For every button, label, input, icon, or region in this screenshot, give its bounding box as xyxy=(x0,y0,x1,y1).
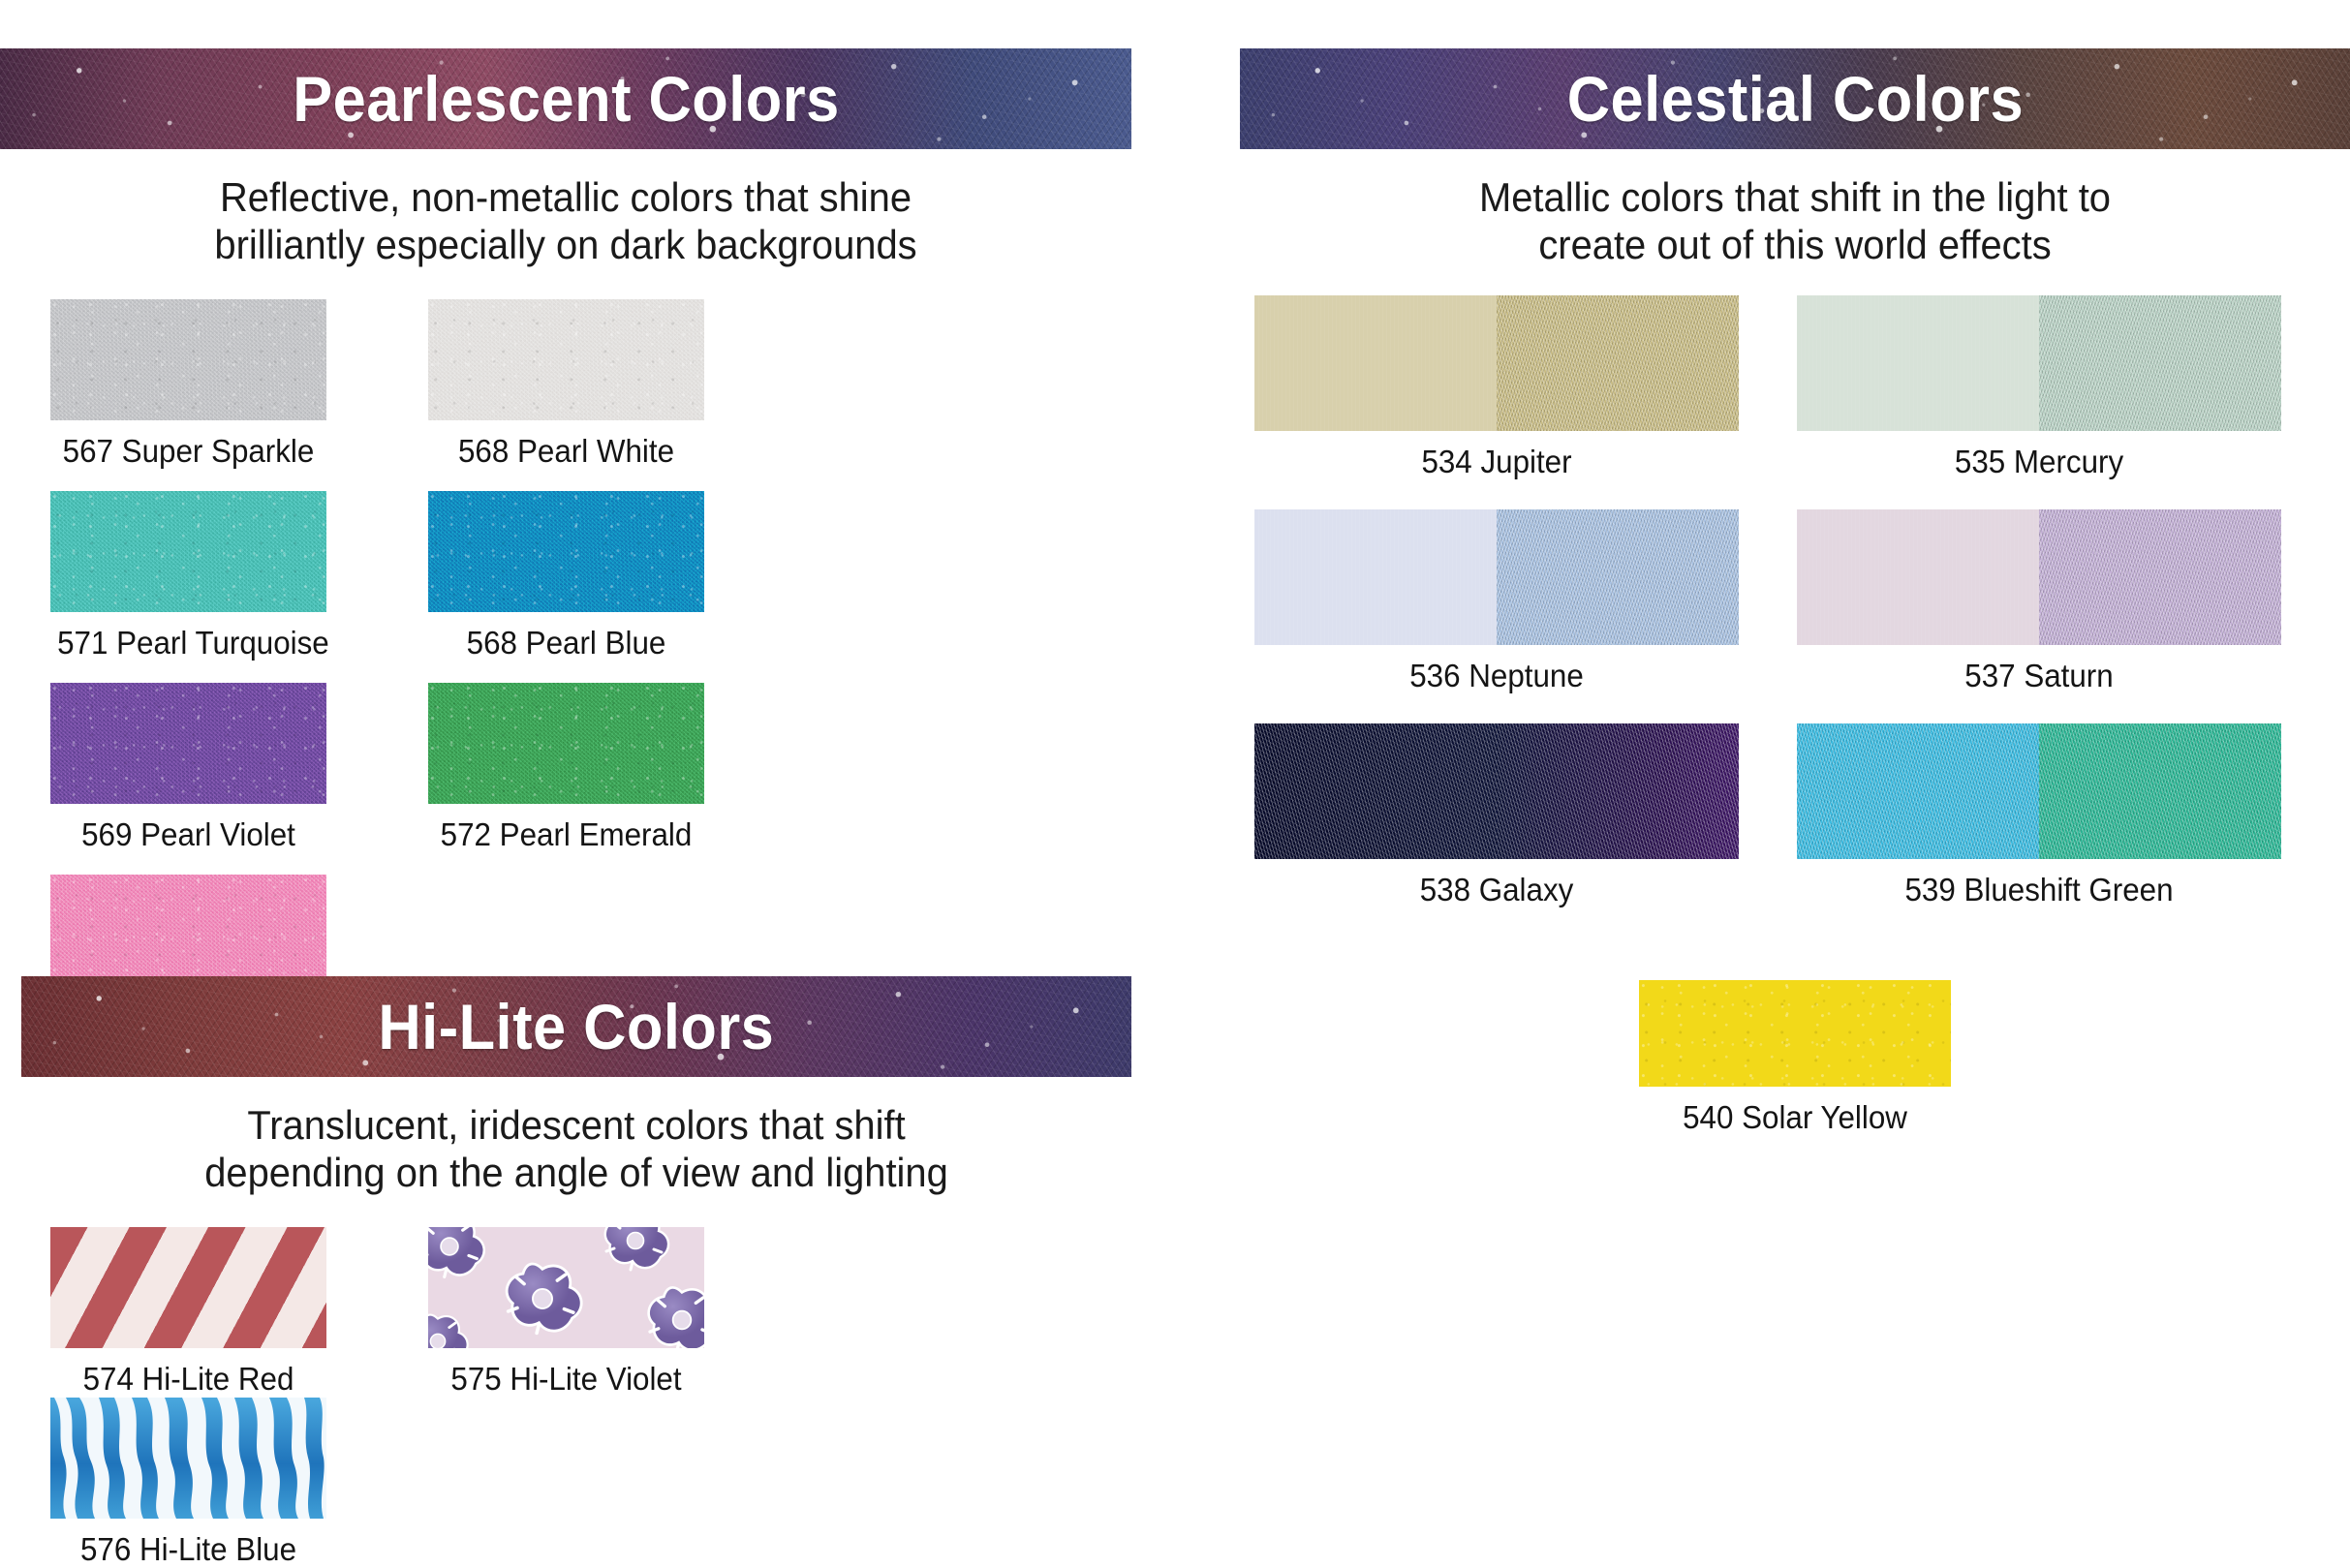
swatch-cell[interactable]: 571 Pearl Turquoise xyxy=(50,491,428,661)
swatch-534-jupiter[interactable] xyxy=(1254,295,1739,431)
pearlescent-desc-line-1: Reflective, non-metallic colors that shi… xyxy=(28,174,1103,222)
pearlescent-swatch-grid: 567 Super Sparkle 568 Pearl White 571 Pe… xyxy=(0,299,1131,1066)
swatch-half-metallic xyxy=(1497,509,1739,645)
swatch-cell[interactable]: 575 Hi-Lite Violet xyxy=(428,1227,806,1398)
swatch-cell[interactable]: 536 Neptune xyxy=(1254,509,1797,694)
pearlescent-title: Pearlescent Colors xyxy=(293,62,839,136)
swatch-label: 538 Galaxy xyxy=(1267,872,1727,908)
metallic-texture-overlay xyxy=(1497,509,1739,645)
swatch-cell[interactable]: 537 Saturn xyxy=(1797,509,2339,694)
swatch-label: 571 Pearl Turquoise xyxy=(57,625,320,661)
swatch-568-pearl-white[interactable] xyxy=(428,299,704,420)
swatch-label: 539 Blueshift Green xyxy=(1809,872,2270,908)
swatch-label: 534 Jupiter xyxy=(1267,444,1727,480)
metallic-texture-overlay xyxy=(2039,295,2281,431)
swatch-grain-overlay xyxy=(428,491,704,612)
swatch-538-galaxy[interactable] xyxy=(1254,723,1739,859)
swatch-cell[interactable]: 574 Hi-Lite Red xyxy=(50,1227,428,1398)
hilite-swatch-grid: 574 Hi-Lite Red xyxy=(21,1227,1131,1568)
swatch-half-metallic xyxy=(1497,723,1739,859)
swatch-half-metallic xyxy=(2039,723,2281,859)
section-hilite: Hi-Lite Colors Translucent, iridescent c… xyxy=(21,976,1131,1568)
pearlescent-description: Reflective, non-metallic colors that shi… xyxy=(28,174,1103,268)
section-pearlescent: Pearlescent Colors Reflective, non-metal… xyxy=(0,48,1131,1066)
pearlescent-desc-line-2: brilliantly especially on dark backgroun… xyxy=(28,222,1103,269)
swatch-grain-overlay xyxy=(428,299,704,420)
swatch-grain-overlay xyxy=(50,491,326,612)
swatch-half-flat xyxy=(1254,723,1497,859)
swatch-567-super-sparkle[interactable] xyxy=(50,299,326,420)
left-column: Pearlescent Colors Reflective, non-metal… xyxy=(0,0,1177,1453)
swatch-half-metallic xyxy=(1497,295,1739,431)
sheen-overlay xyxy=(1797,295,2039,431)
hilite-desc-line-1: Translucent, iridescent colors that shif… xyxy=(49,1102,1104,1150)
swatch-label: 575 Hi-Lite Violet xyxy=(435,1361,697,1398)
swatch-half-metallic xyxy=(2039,295,2281,431)
swatch-label: 535 Mercury xyxy=(1809,444,2270,480)
swatch-label: 567 Super Sparkle xyxy=(57,433,320,470)
sheen-overlay xyxy=(1254,295,1497,431)
swatch-571-pearl-turquoise[interactable] xyxy=(50,491,326,612)
celestial-description: Metallic colors that shift in the light … xyxy=(1268,174,2323,268)
swatch-cell[interactable]: 572 Pearl Emerald xyxy=(428,683,806,853)
swatch-grain-overlay xyxy=(50,299,326,420)
metallic-texture-overlay xyxy=(1797,723,2039,859)
floral-pattern-icon xyxy=(428,1227,704,1348)
metallic-texture-overlay xyxy=(2039,723,2281,859)
hilite-desc-line-2: depending on the angle of view and light… xyxy=(49,1150,1104,1197)
metallic-texture-overlay xyxy=(1254,723,1497,859)
swatch-label: 568 Pearl White xyxy=(435,433,697,470)
hilite-header-band: Hi-Lite Colors xyxy=(21,976,1131,1077)
hilite-description: Translucent, iridescent colors that shif… xyxy=(49,1102,1104,1196)
celestial-desc-line-1: Metallic colors that shift in the light … xyxy=(1268,174,2323,222)
hilite-title: Hi-Lite Colors xyxy=(379,990,775,1063)
celestial-desc-line-2: create out of this world effects xyxy=(1268,222,2323,269)
swatch-label: 574 Hi-Lite Red xyxy=(57,1361,320,1398)
swatch-label: 576 Hi-Lite Blue xyxy=(57,1531,320,1568)
sheen-overlay xyxy=(1797,509,2039,645)
metallic-texture-overlay xyxy=(2039,509,2281,645)
swatch-cell[interactable]: 576 Hi-Lite Blue xyxy=(50,1398,428,1568)
right-column: Celestial Colors Metallic colors that sh… xyxy=(1240,0,2350,1453)
celestial-swatch-grid: 534 Jupiter 535 Mercury 536 Neptune xyxy=(1240,295,2350,938)
swatch-half-flat xyxy=(1797,509,2039,645)
swatch-label: 569 Pearl Violet xyxy=(57,816,320,853)
swatch-cell[interactable]: 535 Mercury xyxy=(1797,295,2339,480)
swatch-label: 572 Pearl Emerald xyxy=(435,816,697,853)
swatch-cell[interactable]: 538 Galaxy xyxy=(1254,723,1797,908)
swatch-grain-overlay xyxy=(428,683,704,804)
swatch-half-flat xyxy=(1797,723,2039,859)
swatch-cell[interactable]: 539 Blueshift Green xyxy=(1797,723,2339,908)
swatch-cell[interactable]: 567 Super Sparkle xyxy=(50,299,428,470)
swatch-label: 540 Solar Yellow xyxy=(1647,1099,1943,1136)
swatch-grain-overlay xyxy=(1639,980,1951,1087)
swatch-grain-overlay xyxy=(50,683,326,804)
metallic-texture-overlay xyxy=(1497,295,1739,431)
swatch-label: 537 Saturn xyxy=(1809,658,2270,694)
swatch-535-mercury[interactable] xyxy=(1797,295,2281,431)
swatch-540-solar-yellow[interactable] xyxy=(1639,980,1951,1087)
pearlescent-header-band: Pearlescent Colors xyxy=(0,48,1131,149)
swatch-half-metallic xyxy=(2039,509,2281,645)
color-chart-page: Pearlescent Colors Reflective, non-metal… xyxy=(0,0,2350,1453)
swatch-537-saturn[interactable] xyxy=(1797,509,2281,645)
swatch-576-hi-lite-blue[interactable] xyxy=(50,1398,326,1519)
swatch-574-hi-lite-red[interactable] xyxy=(50,1227,326,1348)
swatch-half-flat xyxy=(1254,509,1497,645)
celestial-title: Celestial Colors xyxy=(1566,62,2023,136)
swatch-575-hi-lite-violet[interactable] xyxy=(428,1227,704,1348)
swatch-536-neptune[interactable] xyxy=(1254,509,1739,645)
swatch-label: 568 Pearl Blue xyxy=(435,625,697,661)
swatch-cell[interactable]: 534 Jupiter xyxy=(1254,295,1797,480)
swatch-539-blueshift-green[interactable] xyxy=(1797,723,2281,859)
swatch-half-flat xyxy=(1254,295,1497,431)
wavy-stripes-pattern-icon xyxy=(50,1398,326,1519)
swatch-572-pearl-emerald[interactable] xyxy=(428,683,704,804)
swatch-cell[interactable]: 569 Pearl Violet xyxy=(50,683,428,853)
section-celestial: Celestial Colors Metallic colors that sh… xyxy=(1240,48,2350,1136)
swatch-half-flat xyxy=(1797,295,2039,431)
celestial-header-band: Celestial Colors xyxy=(1240,48,2350,149)
swatch-label: 536 Neptune xyxy=(1267,658,1727,694)
solar-yellow-cell[interactable]: 540 Solar Yellow xyxy=(1240,980,2350,1136)
metallic-texture-overlay xyxy=(1497,723,1739,859)
swatch-cell[interactable]: 568 Pearl Blue xyxy=(428,491,806,661)
swatch-cell[interactable]: 568 Pearl White xyxy=(428,299,806,470)
swatch-569-pearl-violet[interactable] xyxy=(50,683,326,804)
sheen-overlay xyxy=(1254,509,1497,645)
swatch-568-pearl-blue[interactable] xyxy=(428,491,704,612)
